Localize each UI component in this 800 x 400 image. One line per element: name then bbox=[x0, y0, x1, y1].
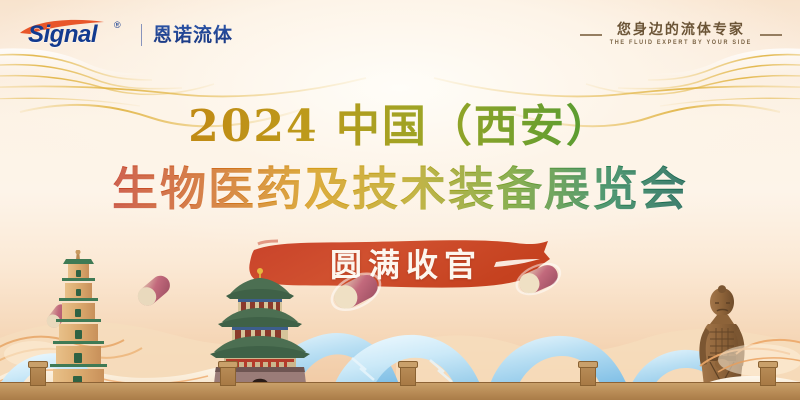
slogan-chinese: 您身边的流体专家 bbox=[610, 22, 752, 39]
slogan-english: THE FLUID EXPERT BY YOUR SIDE bbox=[610, 38, 752, 48]
slogan-dash-left bbox=[580, 34, 602, 36]
capsule-pill-icon bbox=[44, 258, 565, 331]
logo-wordmark: Signal bbox=[28, 23, 97, 47]
registered-mark: ® bbox=[114, 20, 121, 30]
title-line-2-row: 生物医药及技术装备展览会 bbox=[0, 154, 800, 217]
event-title-line-1: 2024 中国（西安） bbox=[188, 100, 612, 154]
event-promo-banner: Signal ® 恩诺流体 您身边的流体专家 THE FLUID EXPERT … bbox=[0, 0, 800, 400]
event-title-line-2: 生物医药及技术装备展览会 bbox=[112, 161, 688, 217]
slogan-dash-right bbox=[760, 34, 782, 36]
wall-post bbox=[760, 364, 776, 386]
slogan-text: 您身边的流体专家 THE FLUID EXPERT BY YOUR SIDE bbox=[610, 22, 752, 48]
logo-divider bbox=[141, 24, 142, 46]
title-line-1-row: 2024 中国（西安） bbox=[0, 100, 800, 154]
wall-post bbox=[220, 364, 236, 386]
logo-mark: Signal ® bbox=[22, 20, 130, 50]
big-wild-goose-pagoda-icon bbox=[47, 250, 110, 391]
title-block: 2024 中国（西安） 生物医药及技术装备展览会 bbox=[0, 100, 800, 217]
brand-slogan: 您身边的流体专家 THE FLUID EXPERT BY YOUR SIDE bbox=[580, 22, 782, 48]
brand-logo[interactable]: Signal ® 恩诺流体 bbox=[22, 20, 233, 50]
wall-post bbox=[580, 364, 596, 386]
logo-chinese-name: 恩诺流体 bbox=[153, 24, 233, 46]
wall-post bbox=[400, 364, 416, 386]
wall-post bbox=[30, 364, 46, 386]
